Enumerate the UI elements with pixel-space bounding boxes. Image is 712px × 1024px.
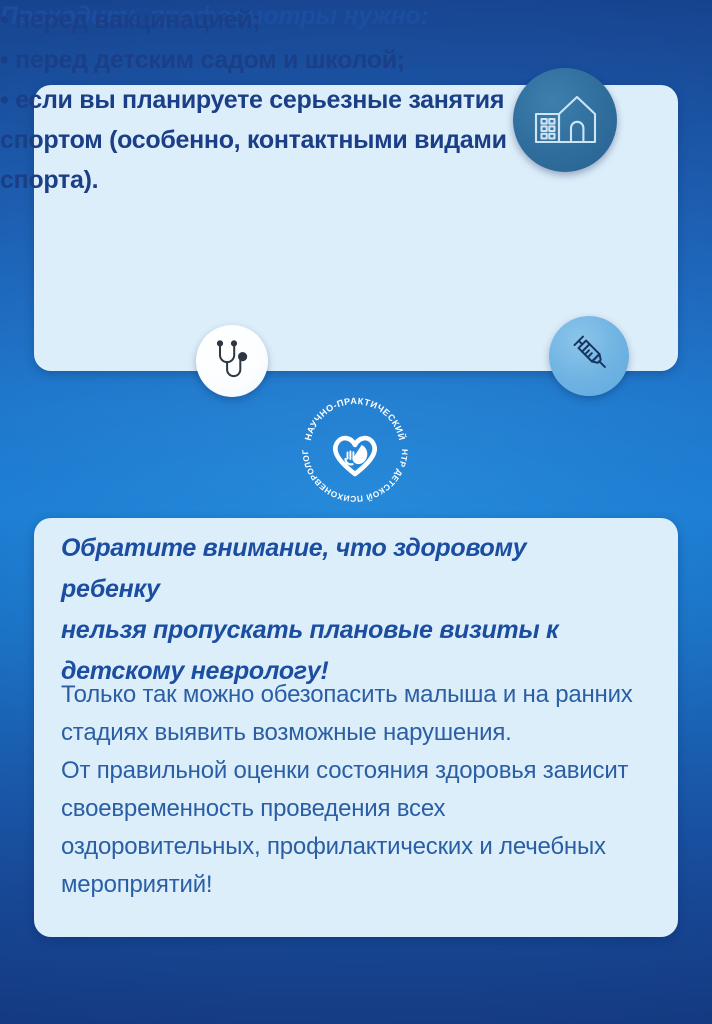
card-two-warning-text: Обратите внимание, что здоровому ребенку… [61, 528, 631, 692]
building-icon [513, 68, 617, 172]
bullet-item: • перед вакцинацией; [0, 0, 507, 40]
body-line: стадиях выявить возможные нарушения. [61, 714, 651, 752]
center-logo: НАУЧНО-ПРАКТИЧЕСКИЙ ЦЕНТР ДЕТСКОЙ ПСИХОН… [296, 390, 414, 508]
body-line: мероприятий! [61, 866, 651, 904]
bullet-item: • если вы планируете серьезные занятия [0, 80, 507, 120]
bullet-item-continuation: спортом (особенно, контактными видами [0, 120, 507, 160]
card-two-body-text: Только так можно обезопасить малыша и на… [61, 676, 651, 904]
stethoscope-icon [196, 325, 268, 397]
logo-text-upper: НАУЧНО-ПРАКТИЧЕСКИЙ [303, 396, 408, 442]
bullet-item: • перед детским садом и школой; [0, 40, 507, 80]
syringe-icon [549, 316, 629, 396]
body-line: Только так можно обезопасить малыша и на… [61, 676, 651, 714]
bullet-item-continuation: спорта). [0, 160, 507, 200]
body-line: своевременность проведения всех [61, 790, 651, 828]
warning-line: нельзя пропускать плановые визиты к [61, 610, 631, 651]
logo-heart-emblem [335, 438, 374, 474]
warning-line: Обратите внимание, что здоровому ребенку [61, 528, 631, 610]
card-one-bullet-list: • перед вакцинацией; • перед детским сад… [0, 0, 507, 200]
body-line: оздоровительных, профилактических и лече… [61, 828, 651, 866]
svg-text:НАУЧНО-ПРАКТИЧЕСКИЙ: НАУЧНО-ПРАКТИЧЕСКИЙ [303, 396, 408, 442]
body-line: От правильной оценки состояния здоровья … [61, 752, 651, 790]
logo-text-lower: ЦЕНТР ДЕТСКОЙ ПСИХОНЕВРОЛОГИИ [296, 390, 410, 504]
svg-text:ЦЕНТР ДЕТСКОЙ ПСИХОНЕВРОЛОГИИ: ЦЕНТР ДЕТСКОЙ ПСИХОНЕВРОЛОГИИ [296, 390, 410, 504]
